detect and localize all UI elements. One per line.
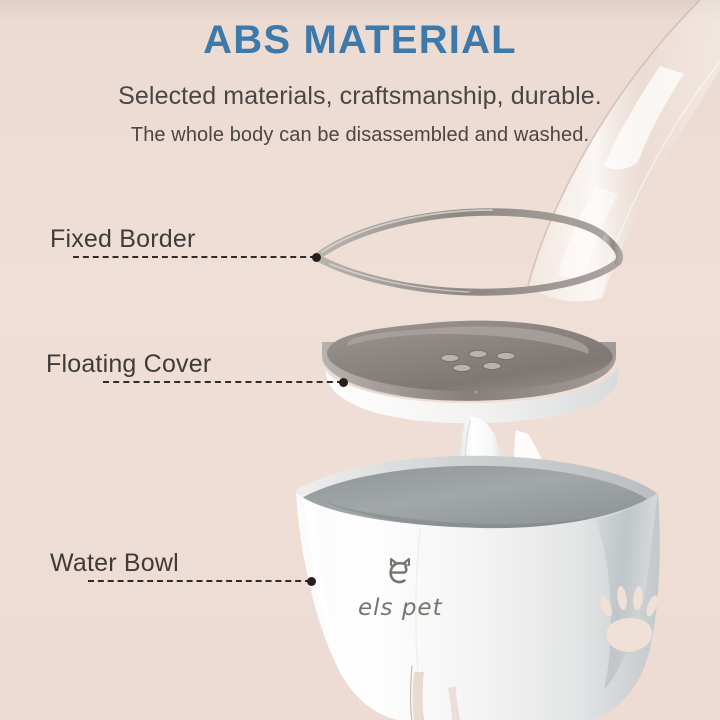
subtitle-primary: Selected materials, craftsmanship, durab… xyxy=(0,82,720,111)
callout-label: Floating Cover xyxy=(46,350,211,379)
callout-label: Fixed Border xyxy=(50,225,196,254)
callout-leader-line xyxy=(88,580,311,582)
subtitle-secondary: The whole body can be disassembled and w… xyxy=(0,124,720,147)
callout-end-dot xyxy=(339,378,348,387)
brand-wordmark: els pet xyxy=(358,595,443,621)
callout-end-dot xyxy=(312,253,321,262)
water-bowl-part xyxy=(296,456,660,720)
callout-end-dot xyxy=(307,577,316,586)
infographic-canvas: ABS MATERIAL Selected materials, craftsm… xyxy=(0,0,720,720)
callout-label: Water Bowl xyxy=(50,549,179,578)
brand-logo: els pet xyxy=(358,556,443,621)
cat-head-e-icon xyxy=(383,556,417,590)
callout-leader-line xyxy=(73,256,316,258)
floating-cover-part xyxy=(322,321,618,424)
callout-leader-line xyxy=(103,381,343,383)
page-title: ABS MATERIAL xyxy=(0,18,720,62)
